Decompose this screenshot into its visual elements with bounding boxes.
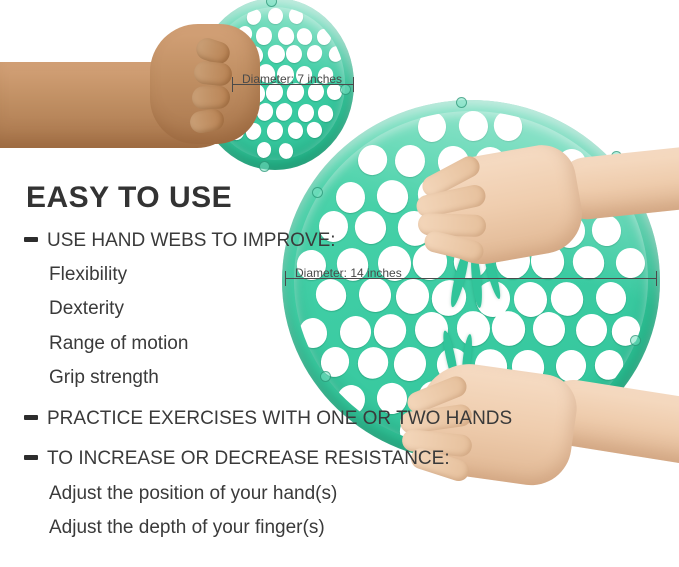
- bullet-label: USE HAND WEBS TO IMPROVE:: [47, 228, 336, 253]
- disc-hole: [593, 279, 629, 316]
- disc-hole: [574, 311, 609, 348]
- disc-hole: [287, 7, 305, 25]
- disc-hole: [267, 8, 282, 25]
- dash-bullet-icon: [24, 415, 38, 420]
- disc-hole: [273, 101, 295, 124]
- disc-hole: [590, 346, 628, 385]
- dash-bullet-icon: [24, 455, 38, 460]
- sub-item: Grip strength: [49, 365, 494, 390]
- disc-hole: [613, 246, 647, 282]
- disc-hole: [297, 103, 316, 123]
- disc-hole: [316, 28, 332, 45]
- disc-hole: [245, 7, 264, 27]
- disc-nub-icon: [259, 161, 270, 172]
- disc-hole: [304, 120, 324, 141]
- bullet-label: PRACTICE EXERCISES WITH ONE OR TWO HANDS: [47, 406, 512, 431]
- dimension-cap-right: [353, 77, 354, 92]
- page-title: EASY TO USE: [26, 182, 494, 214]
- bullet-label: TO INCREASE OR DECREASE RESISTANCE:: [47, 446, 450, 471]
- finger: [192, 85, 231, 109]
- disc-hole: [265, 43, 287, 66]
- disc-hole: [568, 241, 609, 283]
- disc-hole: [266, 121, 284, 141]
- sub-item: Adjust the position of your hand(s): [49, 481, 494, 506]
- disc-hole: [255, 141, 272, 159]
- disc-hole: [354, 140, 391, 178]
- bullet-item: USE HAND WEBS TO IMPROVE:: [24, 228, 494, 253]
- disc-hole: [287, 120, 306, 140]
- disc-hole: [608, 312, 645, 350]
- disc-hole: [256, 26, 273, 44]
- disc-hole: [327, 44, 345, 64]
- infographic-canvas: Diameter: 7 inches Diameter: 14 inches E…: [0, 0, 679, 567]
- large-disc-dimension-label: Diameter: 14 inches: [295, 267, 402, 279]
- bullet-item: TO INCREASE OR DECREASE RESISTANCE:: [24, 446, 494, 471]
- disc-hole: [417, 112, 447, 144]
- disc-hole: [490, 111, 527, 145]
- disc-hole: [394, 144, 426, 177]
- disc-hole: [285, 44, 303, 64]
- disc-hole: [295, 26, 315, 47]
- disc-hole: [305, 43, 324, 64]
- sub-item: Dexterity: [49, 296, 494, 321]
- small-disc-dimension-label: Diameter: 7 inches: [242, 73, 342, 85]
- instructions-block: EASY TO USE USE HAND WEBS TO IMPROVE: Fl…: [24, 182, 494, 550]
- dimension-cap-right: [656, 271, 657, 286]
- disc-hole: [277, 142, 294, 160]
- bullet-item: PRACTICE EXERCISES WITH ONE OR TWO HANDS: [24, 406, 494, 431]
- disc-nub-icon: [456, 97, 467, 108]
- disc-hole: [276, 25, 296, 46]
- disc-hole: [455, 111, 491, 145]
- dash-bullet-icon: [24, 237, 38, 242]
- disc-hole: [316, 104, 334, 123]
- sub-item: Range of motion: [49, 331, 494, 356]
- sub-item: Flexibility: [49, 262, 494, 287]
- sub-item: Adjust the depth of your finger(s): [49, 515, 494, 540]
